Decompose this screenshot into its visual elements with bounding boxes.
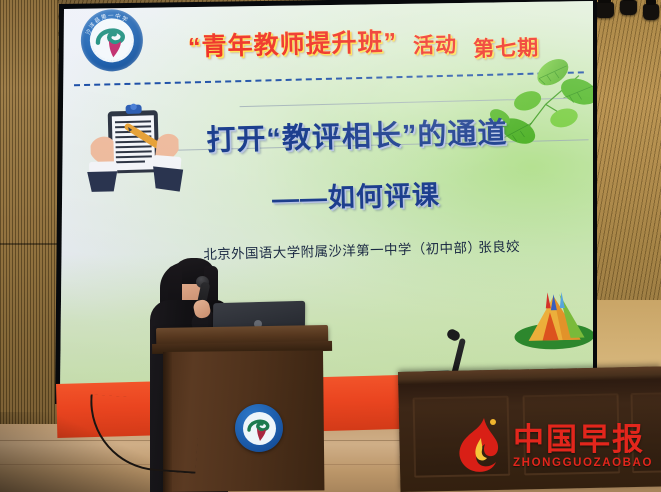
watermark-name-cn: 中国早报 [513, 424, 653, 455]
presenter-name-text: 张良姣 [478, 239, 520, 255]
watermark: 中国早报 ZHONGGUOZAOBAO [450, 416, 653, 478]
slide-banner-title: “青年教师提升班” [188, 22, 398, 63]
watermark-name-en: ZHONGGUOZAOBAO [513, 458, 653, 470]
ceiling-spotlight [595, 2, 614, 18]
slide-presenter-org: 北京外国语大学附属沙洋第一中学（初中部） [203, 236, 481, 263]
corner-shadow [0, 412, 150, 492]
watermark-text: 中国早报 ZHONGGUOZAOBAO [513, 424, 653, 470]
clipboard-illustration-icon [81, 99, 189, 194]
slide-presenter-name: 张良姣 [478, 235, 520, 256]
ceiling-spotlight [643, 4, 659, 20]
slide-subtitle: ——如何评课 [271, 173, 440, 216]
slide-main-title: 打开“教评相长”的通道 [206, 109, 508, 159]
presenter-org-text: 北京外国语大学附属沙洋第一中学（初中部） [203, 240, 481, 262]
flame-logo-icon [450, 416, 506, 478]
tent-illustration-icon [509, 289, 597, 357]
ceiling-spotlight [620, 0, 637, 15]
podium-school-emblem-icon [235, 404, 283, 452]
slide-banner-activity: 活动 [413, 29, 458, 60]
photo-scene: 沙洋县第一中学 SHA YANG XIAN DI YI ZHONG XUE “青… [0, 0, 661, 492]
emblem-ring-text: 沙洋县第一中学 SHA YANG XIAN DI YI ZHONG XUE [80, 9, 144, 73]
banner-title-text: “青年教师提升班” [188, 28, 398, 61]
banner-activity-text: 活动 [413, 34, 458, 58]
main-title-text: 打开“教评相长”的通道 [206, 117, 508, 157]
school-emblem-icon: 沙洋县第一中学 SHA YANG XIAN DI YI ZHONG XUE [80, 9, 144, 73]
svg-text:沙洋县第一中学: 沙洋县第一中学 [84, 11, 131, 36]
podium-emblem-swirl-icon [243, 412, 276, 445]
subtitle-text: ——如何评课 [272, 180, 441, 214]
